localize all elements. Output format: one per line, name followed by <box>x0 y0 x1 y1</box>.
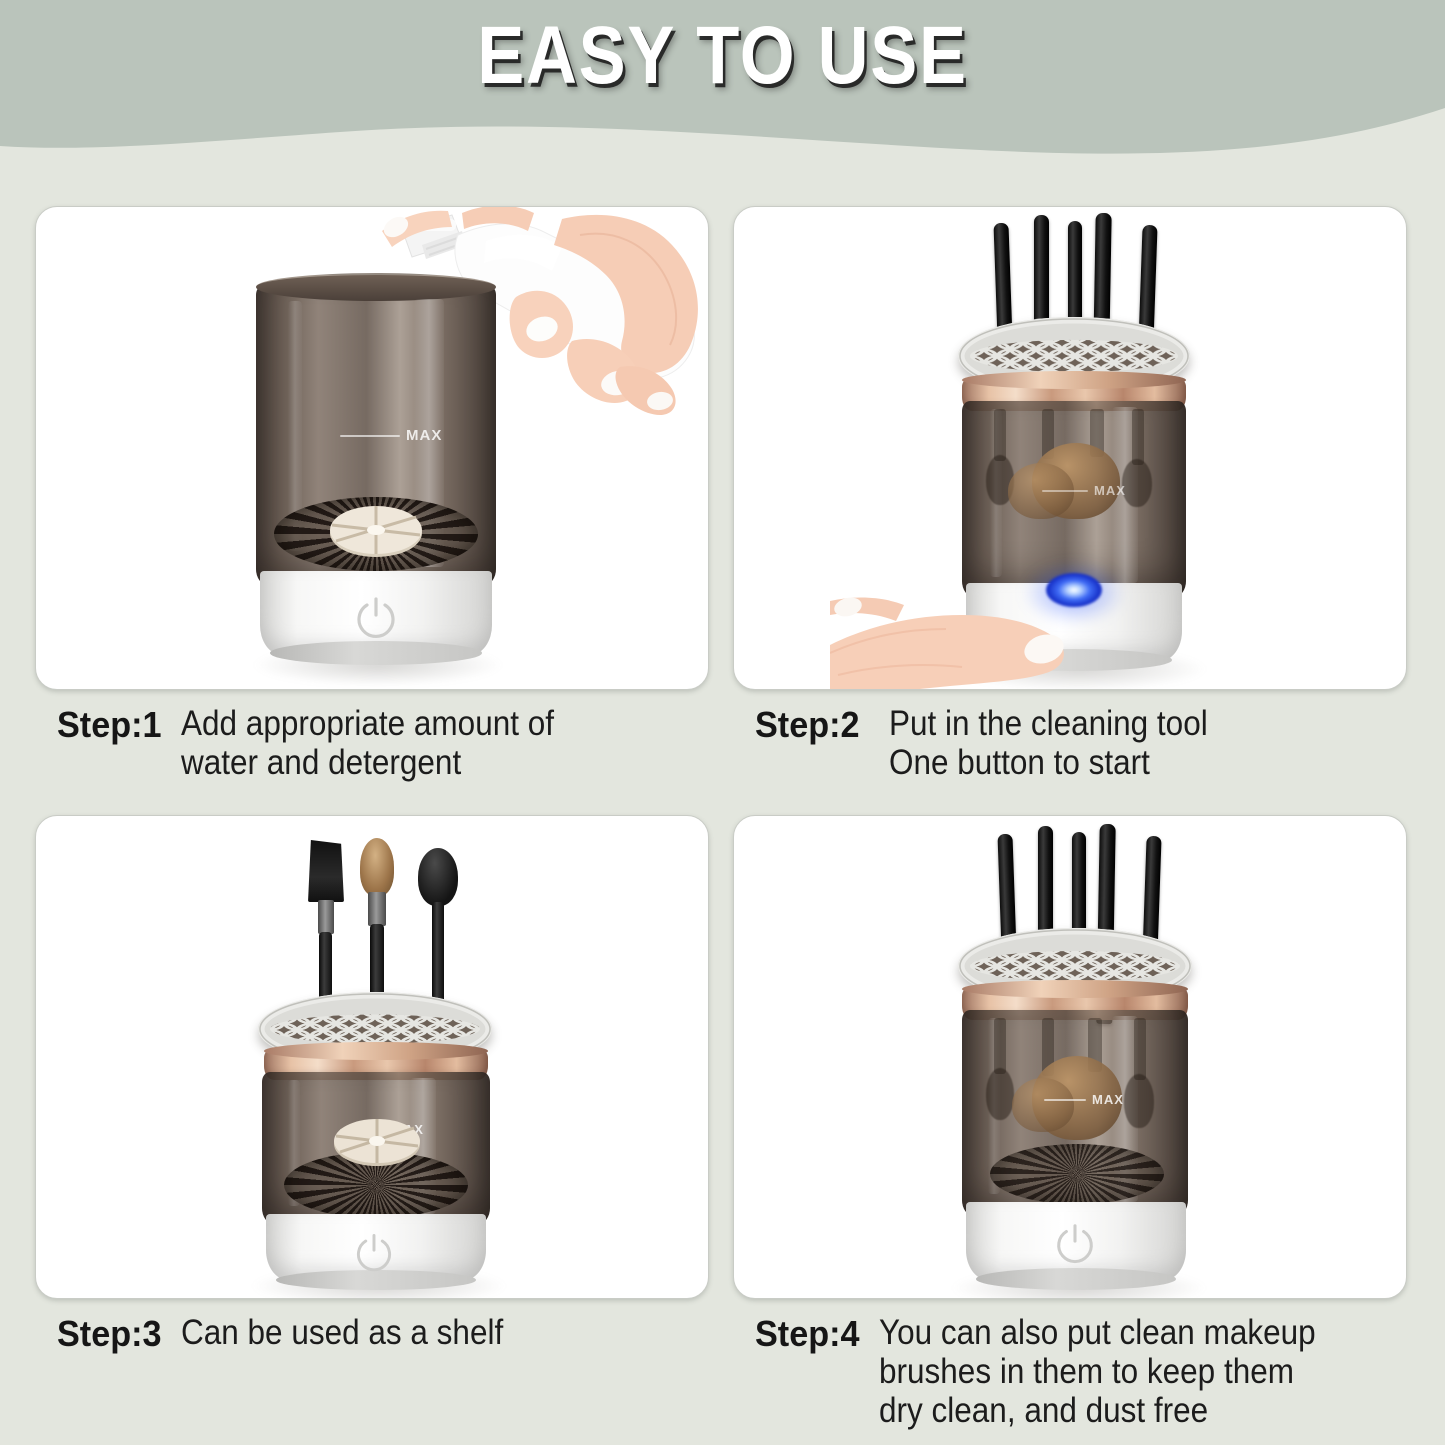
step-4-label: Step:4 <box>755 1313 860 1354</box>
infographic-page: EASY TO USE <box>0 0 1445 1445</box>
power-icon[interactable] <box>1052 1220 1098 1266</box>
step-1-text: Add appropriate amount of water and dete… <box>181 704 671 782</box>
step-2-image-card: MAX <box>733 206 1407 690</box>
header-banner: EASY TO USE <box>0 0 1445 210</box>
step-2-scene: MAX <box>734 207 1406 689</box>
impeller-ring <box>990 1144 1164 1204</box>
collar-top-edge <box>264 1042 488 1060</box>
round-brush-bristles <box>360 838 394 896</box>
impeller-rotor <box>332 1116 422 1168</box>
step-4-text: You can also put clean makeup brushes in… <box>879 1313 1369 1430</box>
stored-brush-stem <box>994 1018 1006 1074</box>
step-2-text: Put in the cleaning tool One button to s… <box>889 704 1370 782</box>
step-1-scene: MAX <box>36 207 708 689</box>
max-line <box>1044 1099 1086 1101</box>
step-1-cell: MAX <box>35 206 725 782</box>
step-1-image-card: MAX <box>35 206 709 690</box>
page-title: EASY TO USE <box>101 14 1344 98</box>
step-4-scene: MAX <box>734 816 1406 1298</box>
cleaning-device-storage: MAX <box>946 928 1208 1296</box>
step-4-image-card: MAX <box>733 815 1407 1299</box>
cleaning-device-open: MAX <box>248 275 504 665</box>
power-icon[interactable] <box>352 1230 396 1274</box>
collar-top-edge <box>962 980 1188 998</box>
stored-brush-stem <box>1134 1018 1146 1080</box>
max-fill-line: MAX <box>340 427 442 444</box>
step-3-label: Step:3 <box>57 1313 162 1354</box>
step-1-caption: Step:1 Add appropriate amount of water a… <box>35 704 725 782</box>
step-3-caption: Step:3 Can be used as a shelf <box>35 1313 725 1354</box>
submerged-brush-stem <box>1132 409 1144 465</box>
step-3-image-card: MAX <box>35 815 709 1299</box>
max-line <box>1042 490 1088 492</box>
flat-brush-ferrule <box>318 900 334 934</box>
submerged-brush-stem <box>994 409 1006 461</box>
step-3-cell: MAX <box>35 815 725 1354</box>
round-brush-ferrule <box>368 892 386 926</box>
cleaning-device-shelf: MAX <box>246 992 508 1292</box>
step-4-caption: Step:4 You can also put clean makeup bru… <box>733 1313 1423 1430</box>
step-4-cell: MAX Step:4 <box>733 815 1423 1430</box>
max-label: MAX <box>1094 483 1126 498</box>
max-label: MAX <box>406 427 442 444</box>
flat-brush-bristles <box>308 840 344 902</box>
step-2-cell: MAX <box>733 206 1423 782</box>
cup-rim <box>256 273 496 301</box>
step-2-caption: Step:2 Put in the cleaning tool One butt… <box>733 704 1423 782</box>
step-3-text: Can be used as a shelf <box>181 1313 671 1352</box>
finger-pressing-button <box>830 591 1100 690</box>
step-3-scene: MAX <box>36 816 708 1298</box>
collar-top-edge <box>962 371 1186 389</box>
stored-brush-head <box>1124 1074 1154 1128</box>
device-foot <box>270 641 482 665</box>
max-line <box>340 435 400 437</box>
submerged-brush-head <box>1122 459 1152 507</box>
power-icon[interactable] <box>352 593 400 641</box>
step-2-label: Step:2 <box>755 704 860 745</box>
impeller-rotor <box>328 503 424 559</box>
sponge-applicator-head <box>418 848 458 906</box>
steps-grid: MAX <box>0 198 1445 1445</box>
device-foot <box>976 1268 1176 1290</box>
max-label: MAX <box>1092 1092 1124 1107</box>
step-1-label: Step:1 <box>57 704 162 745</box>
stored-brush-head <box>986 1068 1014 1120</box>
max-fill-line: MAX <box>1042 483 1126 498</box>
max-fill-line: MAX <box>1044 1092 1124 1107</box>
